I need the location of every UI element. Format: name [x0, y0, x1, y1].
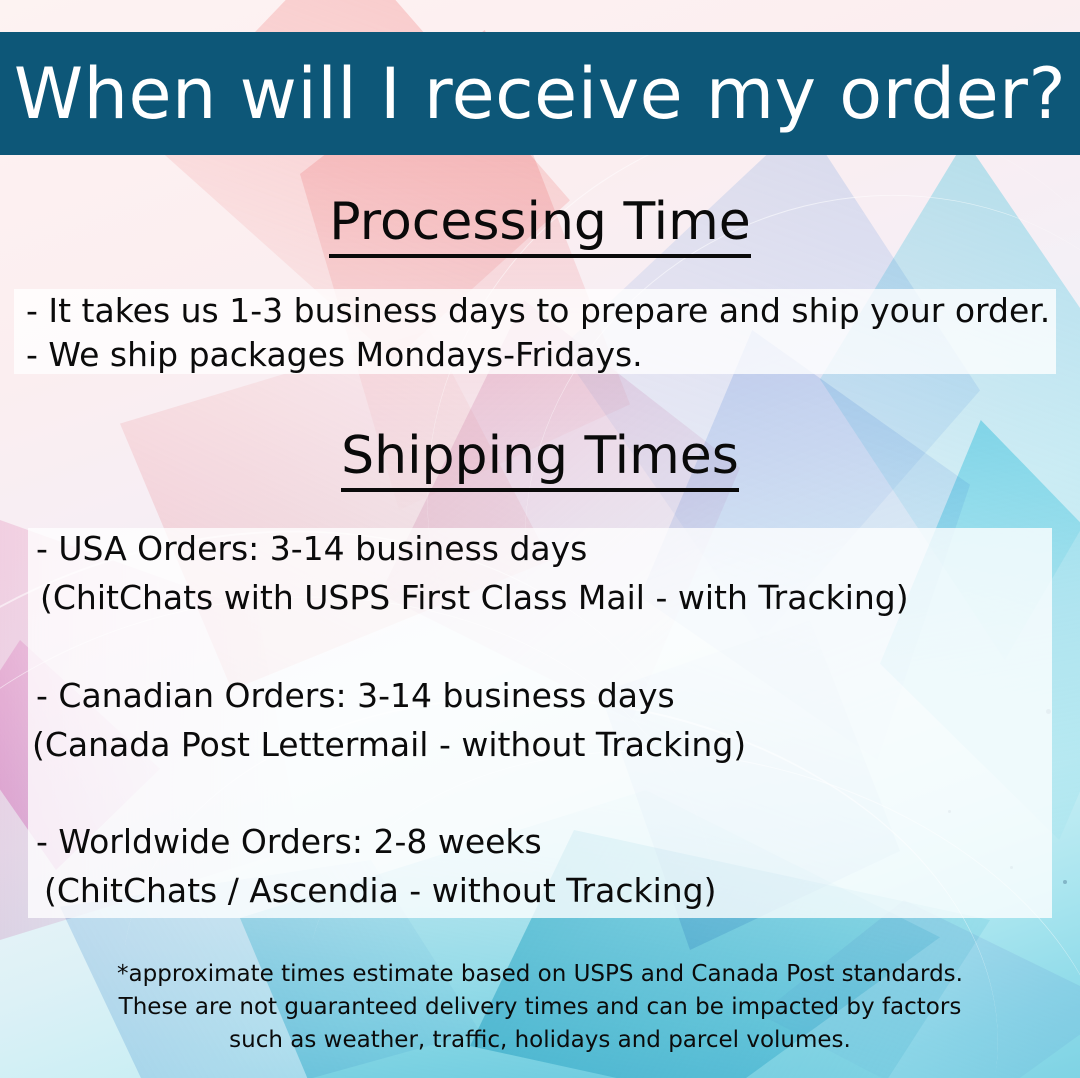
usa-orders-line: - USA Orders: 3-14 business days	[36, 532, 587, 565]
shipping-times-heading-text: Shipping Times	[341, 430, 739, 492]
processing-time-heading: Processing Time	[0, 196, 1080, 258]
worldwide-orders-line: - Worldwide Orders: 2-8 weeks	[36, 825, 542, 858]
disclaimer-line-3: such as weather, traffic, holidays and p…	[0, 1024, 1080, 1057]
shipping-times-heading: Shipping Times	[0, 430, 1080, 492]
processing-line-1: - It takes us 1-3 business days to prepa…	[26, 294, 1050, 327]
canadian-orders-carrier-line: (Canada Post Lettermail - without Tracki…	[32, 728, 746, 761]
worldwide-orders-carrier-line: (ChitChats / Ascendia - without Tracking…	[44, 874, 717, 907]
disclaimer-line-1: *approximate times estimate based on USP…	[0, 958, 1080, 991]
header-banner: When will I receive my order?	[0, 32, 1080, 155]
processing-line-2: - We ship packages Mondays-Fridays.	[26, 338, 643, 371]
processing-time-heading-text: Processing Time	[329, 196, 750, 258]
usa-orders-carrier-line: (ChitChats with USPS First Class Mail - …	[40, 581, 909, 614]
disclaimer: *approximate times estimate based on USP…	[0, 958, 1080, 1057]
page-title: When will I receive my order?	[14, 59, 1066, 129]
disclaimer-line-2: These are not guaranteed delivery times …	[0, 991, 1080, 1024]
canadian-orders-line: - Canadian Orders: 3-14 business days	[36, 679, 675, 712]
shipping-info-poster: When will I receive my order? Processing…	[0, 0, 1080, 1078]
speck-dot	[1063, 880, 1067, 884]
